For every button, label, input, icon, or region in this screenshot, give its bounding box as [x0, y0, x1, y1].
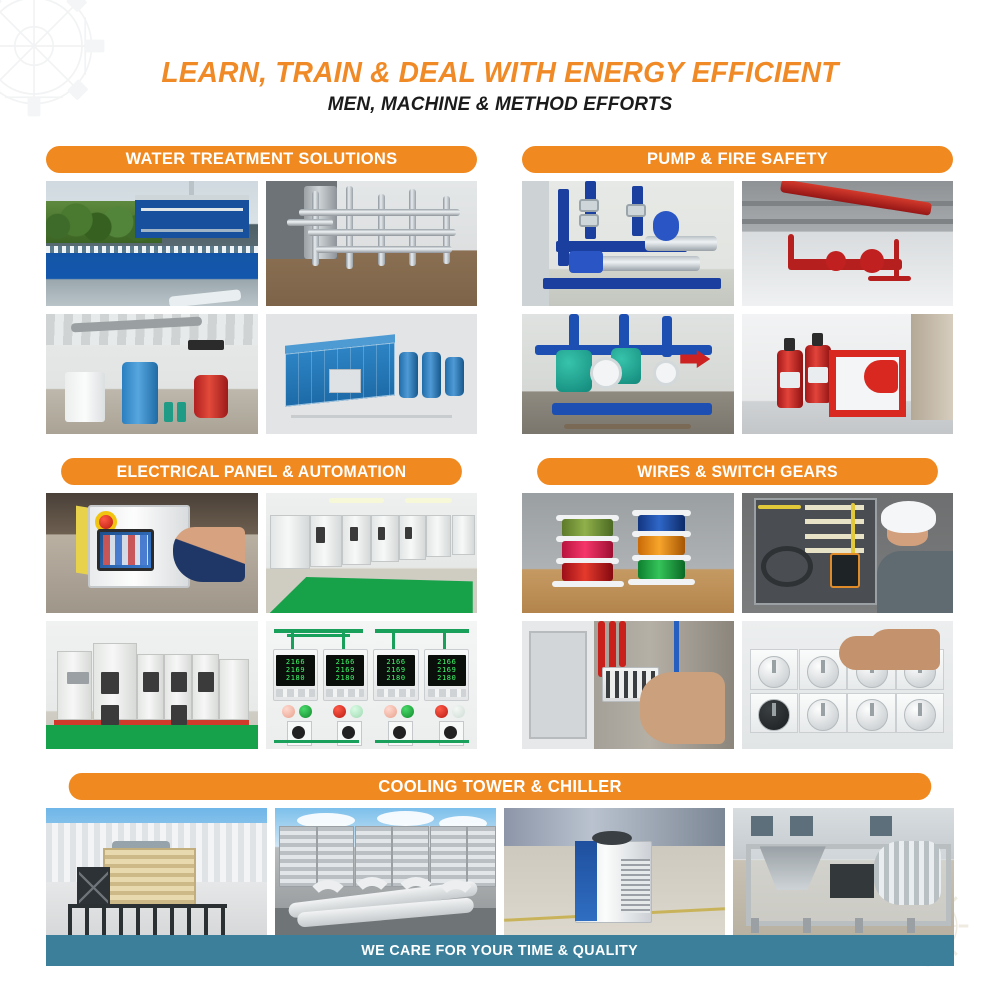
section-cooling-tower-chiller: COOLING TOWER & CHILLER	[46, 773, 954, 936]
meter-reading-2: 2169	[431, 667, 463, 674]
page-title: LEARN, TRAIN & DEAL WITH ENERGY EFFICIEN…	[15, 58, 985, 90]
section-electrical-panel-automation: ELECTRICAL PANEL & AUTOMATION	[46, 458, 477, 749]
photo-stainless-piping	[266, 181, 478, 306]
digital-meter: 2166 2169 2180	[273, 649, 318, 701]
digital-meter: 2166 2169 2180	[323, 649, 368, 701]
indicator-lamp	[350, 705, 363, 718]
footer-band: WE CARE FOR YOUR TIME & QUALITY	[46, 935, 954, 966]
section-wires-switch-gears: WIRES & SWITCH GEARS	[522, 458, 953, 749]
sections-board: WATER TREATMENT SOLUTIONS	[46, 146, 954, 936]
brochure-page: LEARN, TRAIN & DEAL WITH ENERGY EFFICIEN…	[0, 0, 1000, 1000]
page-subtitle: MEN, MACHINE & METHOD EFFORTS	[0, 95, 1000, 116]
indicator-lamp	[333, 705, 346, 718]
photo-green-booster-pumps	[522, 314, 734, 434]
photo-blue-pump-valves	[522, 181, 734, 306]
section-header-cooling-tower-chiller[interactable]: COOLING TOWER & CHILLER	[69, 773, 932, 800]
meter-reading-1: 2166	[380, 659, 412, 666]
photo-red-sprinkler-pipes	[742, 181, 954, 306]
photo-cooling-tower-bank	[275, 808, 496, 936]
page-header: LEARN, TRAIN & DEAL WITH ENERGY EFFICIEN…	[0, 58, 1000, 116]
photo-grid-wires-switch-gears	[522, 493, 953, 749]
indicator-lamp	[401, 705, 414, 718]
photo-extinguishers-hose-cabinet	[742, 314, 954, 434]
meter-reading-3: 2180	[279, 675, 311, 682]
photo-grid-water-treatment	[46, 181, 477, 434]
photo-digital-meters: 2166 2169 2180 2166 2169 2180	[266, 621, 478, 749]
photo-hmi-touch-panel	[46, 493, 258, 613]
photo-water-softener-room	[46, 314, 258, 434]
meter-reading-3: 2180	[431, 675, 463, 682]
photo-portable-chiller	[504, 808, 725, 936]
indicator-lamp	[435, 705, 448, 718]
photo-switchgear-room	[266, 493, 478, 613]
photo-electrician-multimeter	[742, 493, 954, 613]
digital-meter: 2166 2169 2180	[424, 649, 469, 701]
indicator-lamp	[452, 705, 465, 718]
meter-reading-2: 2169	[279, 667, 311, 674]
indicator-lamp	[384, 705, 397, 718]
indicator-lamp	[282, 705, 295, 718]
footer-text: WE CARE FOR YOUR TIME & QUALITY	[362, 942, 639, 959]
meter-reading-1: 2166	[279, 659, 311, 666]
digital-meter: 2166 2169 2180	[373, 649, 418, 701]
section-pump-fire-safety: PUMP & FIRE SAFETY	[522, 146, 953, 434]
indicator-lamp	[299, 705, 312, 718]
meter-reading-2: 2169	[329, 667, 361, 674]
section-header-electrical-panel-automation[interactable]: ELECTRICAL PANEL & AUTOMATION	[61, 458, 462, 485]
photo-rotary-switch-panel	[742, 621, 954, 749]
photo-grid-electrical-panel: 2166 2169 2180 2166 2169 2180	[46, 493, 477, 749]
photo-grid-cooling-tower-chiller	[46, 808, 954, 936]
section-header-wires-switch-gears[interactable]: WIRES & SWITCH GEARS	[537, 458, 938, 485]
meter-reading-3: 2180	[380, 675, 412, 682]
photo-industrial-chiller-skid	[733, 808, 954, 936]
photo-grid-pump-fire-safety	[522, 181, 953, 434]
photo-breaker-installation	[522, 621, 734, 749]
section-row-1: WATER TREATMENT SOLUTIONS	[46, 146, 954, 434]
meter-reading-3: 2180	[329, 675, 361, 682]
meter-reading-1: 2166	[431, 659, 463, 666]
photo-control-panel-row	[46, 621, 258, 749]
photo-etp-package-unit	[266, 314, 478, 434]
section-water-treatment-solutions: WATER TREATMENT SOLUTIONS	[46, 146, 477, 434]
meter-reading-2: 2169	[380, 667, 412, 674]
photo-cooling-tower-outdoor	[46, 808, 267, 936]
photo-clarifier-tank	[46, 181, 258, 306]
section-header-water-treatment-solutions[interactable]: WATER TREATMENT SOLUTIONS	[46, 146, 477, 173]
section-row-2: ELECTRICAL PANEL & AUTOMATION	[46, 458, 954, 749]
meter-reading-1: 2166	[329, 659, 361, 666]
section-header-pump-fire-safety[interactable]: PUMP & FIRE SAFETY	[522, 146, 953, 173]
photo-cable-spools	[522, 493, 734, 613]
